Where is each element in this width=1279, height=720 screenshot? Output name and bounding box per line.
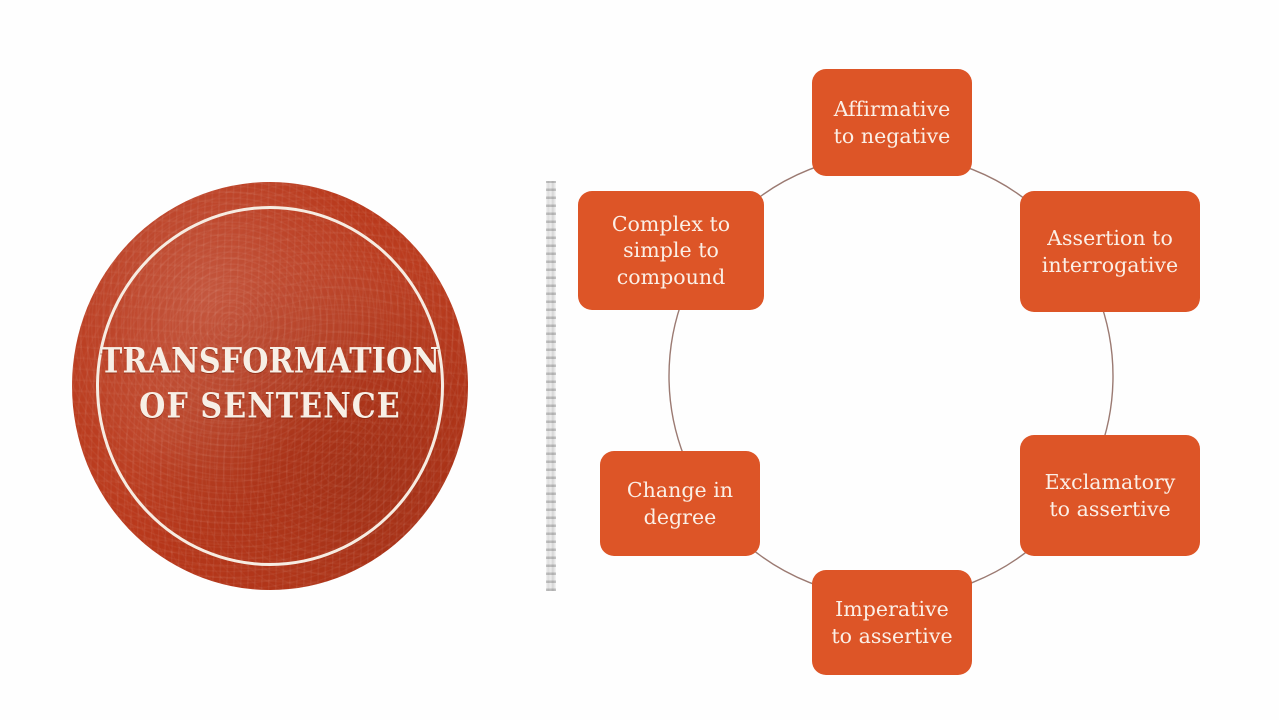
slide-canvas: TRANSFORMATION OF SENTENCE Affirmative t… (0, 0, 1279, 720)
node-label-line-2: interrogative (1042, 252, 1178, 279)
node-label-line-3: compound (612, 264, 730, 291)
cycle-node-affirmative-to-negative[interactable]: Affirmative to negative (812, 69, 972, 176)
vertical-divider-bar (546, 181, 556, 591)
node-label-line-2: simple to (612, 237, 730, 264)
node-label-line-1: Affirmative (834, 96, 951, 123)
node-label-line-2: to negative (834, 123, 951, 150)
node-label-line-1: Complex to (612, 211, 730, 238)
cycle-node-change-in-degree[interactable]: Change in degree (600, 451, 760, 556)
cycle-node-assertion-to-interrogative[interactable]: Assertion to interrogative (1020, 191, 1200, 312)
transformation-stamp-logo: TRANSFORMATION OF SENTENCE (72, 182, 468, 590)
cycle-node-complex-to-simple-to-compound[interactable]: Complex to simple to compound (578, 191, 764, 310)
cycle-node-imperative-to-assertive[interactable]: Imperative to assertive (812, 570, 972, 675)
node-label-line-1: Assertion to (1042, 225, 1178, 252)
node-label-line-1: Change in (627, 477, 733, 504)
stamp-grain-texture (72, 182, 468, 590)
cycle-diagram: Affirmative to negative Assertion to int… (560, 40, 1240, 690)
node-label-line-2: to assertive (831, 623, 952, 650)
node-label-line-1: Imperative (831, 596, 952, 623)
node-label-line-2: to assertive (1045, 496, 1176, 523)
node-label-line-2: degree (627, 504, 733, 531)
cycle-node-exclamatory-to-assertive[interactable]: Exclamatory to assertive (1020, 435, 1200, 556)
stamp-speckle-texture (72, 182, 468, 590)
stamp-disc (72, 182, 468, 590)
node-label-line-1: Exclamatory (1045, 469, 1176, 496)
